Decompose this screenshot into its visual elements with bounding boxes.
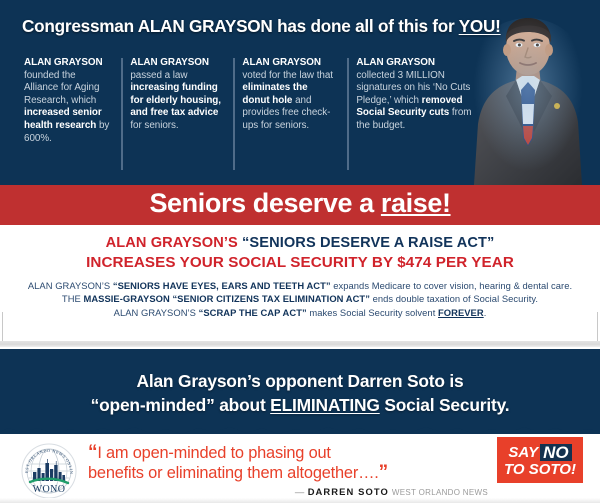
act-headline-line2: INCREASES YOUR SOCIAL SECURITY BY $474 P… [0,254,600,271]
list-item: ALAN GRAYSON’S “SENIORS HAVE EYES, EARS … [0,279,600,292]
column-text-lead: founded the Alliance for Aging Research,… [24,70,99,106]
column-name: ALAN GRAYSON [356,57,476,70]
bullet-lead: ALAN GRAYSON’S [114,307,199,318]
badge-row-2: TO SOTO! [497,461,583,478]
bullet-lead: THE [62,293,84,304]
opponent-line2-tail: Social Security. [380,395,510,415]
bullet-tail: ends double taxation of Social Security. [370,293,538,304]
quote-line-2: benefits or eliminating them altogether…… [88,464,379,482]
column-text-bold: increasing funding for elderly housing, … [130,82,221,118]
accomplishment-columns: ALAN GRAYSON founded the Alliance for Ag… [24,57,476,177]
bullet-period: . [484,307,487,318]
column-text-lead: passed a law [130,70,187,81]
bottom-fold-edge [0,498,600,503]
accomplishment-column: ALAN GRAYSON passed a law increasing fun… [121,57,233,177]
top-navy-panel: Congressman ALAN GRAYSON has done all of… [0,0,600,185]
attribution-dash: — [295,486,308,497]
opponent-line1: Alan Grayson’s opponent Darren Soto is [0,371,600,392]
column-body: passed a law increasing funding for elde… [130,70,223,133]
column-name: ALAN GRAYSON [242,57,337,70]
column-body: voted for the law that eliminates the do… [242,70,337,133]
say-no-to-soto-badge: SAYNO TO SOTO! [497,437,583,483]
column-text-bold: increased senior health research [24,107,102,131]
bullet-tail: makes Social Security solvent [307,307,438,318]
act-headline-owner: ALAN GRAYSON’S [106,235,238,251]
list-item: THE MASSIE-GRAYSON “SENIOR CITIZENS TAX … [0,292,600,305]
candidate-photo [462,12,594,185]
banner-text-lead: Seniors deserve a [149,188,380,218]
badge-word-no: NO [540,444,572,461]
bullet-lead: ALAN GRAYSON’S [28,280,113,291]
quote-line-1: I am open-minded to phasing out [97,444,330,462]
opponent-line2-emphasis: ELIMINATING [270,395,380,415]
bullet-bold: “SCRAP THE CAP ACT” [199,307,307,318]
acts-section: ALAN GRAYSON’S “SENIORS DESERVE A RAISE … [0,229,600,339]
quote-close-mark: ” [379,462,388,483]
page-title: Congressman ALAN GRAYSON has done all of… [22,16,492,37]
quote-open-mark: “ [88,442,97,463]
opponent-navy-panel: Alan Grayson’s opponent Darren Soto is “… [0,349,600,434]
quote-attribution: — DARREN SOTO WEST ORLANDO NEWS [88,486,488,497]
opponent-line2-lead: “open-minded” about [91,395,271,415]
attribution-name: DARREN SOTO [308,486,389,497]
bullet-bold: “SENIORS HAVE EYES, EARS AND TEETH ACT” [113,280,331,291]
photo-glow [466,18,590,183]
act-headline-title: “SENIORS DESERVE A RAISE ACT” [242,235,494,251]
wono-globe-skyline-logo-icon: WEST ORLANDO NEWS ONLINE WONO [20,442,78,500]
soto-quote: “I am open-minded to phasing out benefit… [88,443,488,483]
column-name: ALAN GRAYSON [24,57,111,70]
badge-word-say: SAY [508,444,538,461]
opponent-line2: “open-minded” about ELIMINATING Social S… [0,395,600,416]
attribution-source: WEST ORLANDO NEWS [392,488,488,497]
bullet-bold: MASSIE-GRAYSON “SENIOR CITIZENS TAX ELIM… [83,293,369,304]
banner-text: Seniors deserve a raise! [0,188,600,219]
column-body: collected 3 MILLION signatures on his ‘N… [356,70,476,133]
act-bullet-list: ALAN GRAYSON’S “SENIORS HAVE EYES, EARS … [0,279,600,319]
column-text-tail: for seniors. [130,120,178,131]
accomplishment-column: ALAN GRAYSON collected 3 MILLION signatu… [347,57,476,177]
seniors-raise-banner: Seniors deserve a raise! [0,185,600,227]
column-body: founded the Alliance for Aging Research,… [24,70,111,146]
accomplishment-column: ALAN GRAYSON voted for the law that elim… [233,57,347,177]
column-name: ALAN GRAYSON [130,57,223,70]
badge-row-1: SAYNO [497,444,583,461]
column-text-lead: voted for the law that [242,70,333,81]
logo-wordmark: WONO [33,484,66,495]
headline-prefix: Congressman ALAN GRAYSON has done all of… [22,16,459,36]
campaign-mailer: Congressman ALAN GRAYSON has done all of… [0,0,600,503]
wono-logo: WEST ORLANDO NEWS ONLINE WONO [20,442,78,500]
banner-text-emphasis: raise! [381,188,451,218]
act-headline-line1: ALAN GRAYSON’S “SENIORS DESERVE A RAISE … [0,235,600,251]
page-fold-band [0,341,600,347]
bullet-underlined-word: FOREVER [438,307,484,318]
bullet-tail: expands Medicare to cover vision, hearin… [331,280,573,291]
list-item: ALAN GRAYSON’S “SCRAP THE CAP ACT” makes… [0,306,600,319]
accomplishment-column: ALAN GRAYSON founded the Alliance for Ag… [24,57,121,177]
